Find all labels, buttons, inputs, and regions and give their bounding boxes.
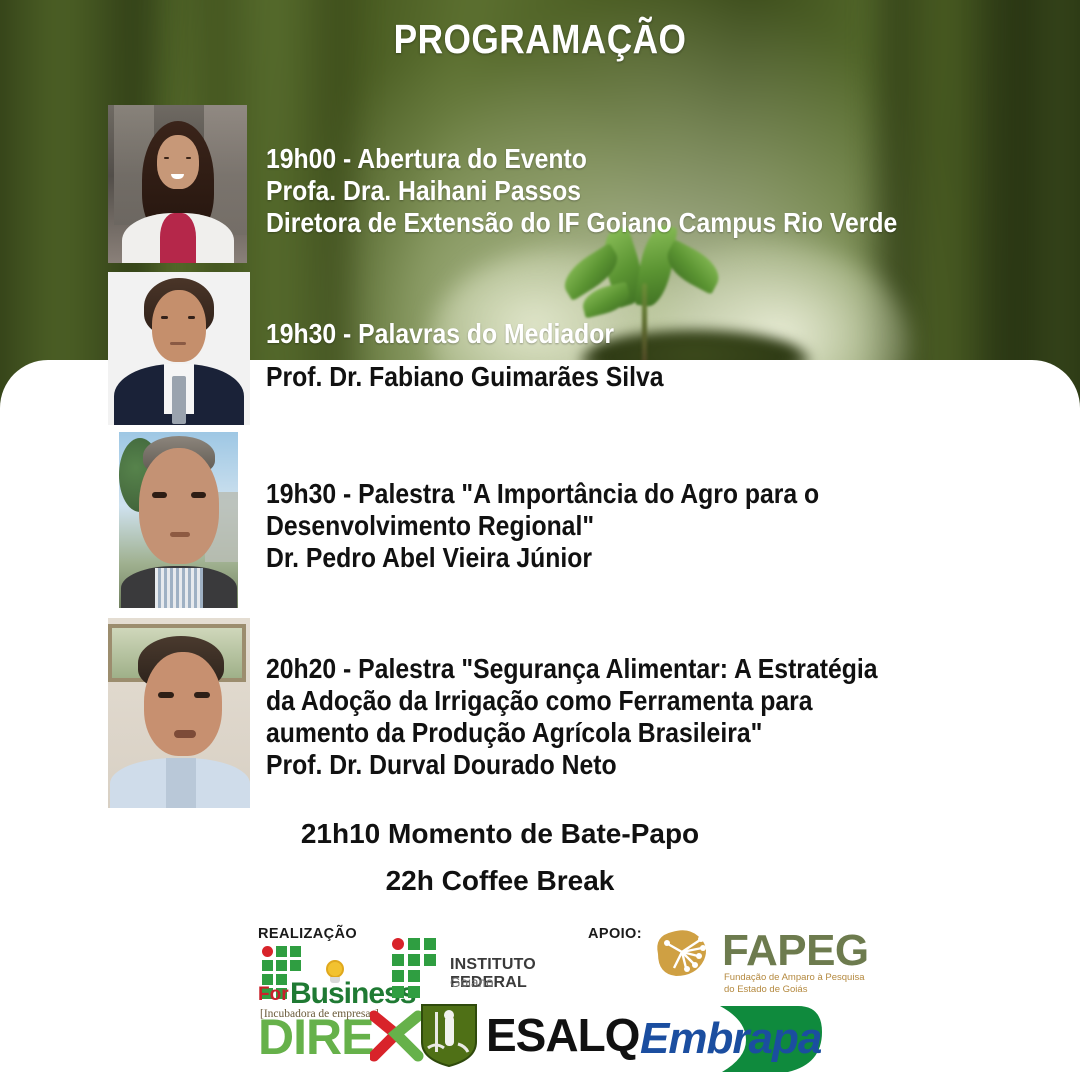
logo-embrapa: Embrapa <box>640 1000 860 1076</box>
if-grid-icon <box>392 938 440 996</box>
logo-instituto-federal-goiano: INSTITUTO FEDERAL Goiano <box>392 938 572 998</box>
logo-fapeg-text: FAPEG <box>722 926 869 976</box>
esalq-shield-icon <box>418 1002 480 1068</box>
logo-embrapa-text: Embrapa <box>640 1014 821 1064</box>
schedule-item-text-line2: Prof. Dr. Fabiano Guimarães Silva <box>266 361 1022 393</box>
logo-esalq: ESALQ <box>418 1002 588 1066</box>
logo-direx-text: DIRE <box>258 1008 373 1066</box>
logo-forbusiness-for: For <box>258 984 289 1006</box>
speaker-photo-fabiano-guimaraes-silva <box>108 272 250 425</box>
speaker-photo-durval-dourado-neto <box>108 618 250 808</box>
footer-logos: REALIZAÇÃO For Business [Incubadora de e… <box>0 912 1080 1080</box>
logo-esalq-text: ESALQ <box>486 1008 639 1062</box>
apoio-label: APOIO: <box>588 926 642 942</box>
closing-line-coffee-break: 22h Coffee Break <box>0 865 1000 897</box>
logo-fapeg: FAPEG Fundação de Amparo à Pesquisa do E… <box>648 920 868 998</box>
logo-fapeg-sub-line2: do Estado de Goiás <box>724 984 807 996</box>
schedule-item-text-line1: 19h30 - Palavras do Mediador <box>266 318 1022 350</box>
speaker-photo-haihani-passos <box>108 105 247 263</box>
schedule-item-text: 19h00 - Abertura do Evento Profa. Dra. H… <box>266 143 1022 239</box>
schedule-item-text: 20h20 - Palestra "Segurança Alimentar: A… <box>266 653 1022 781</box>
speaker-photo-pedro-abel-vieira-junior <box>119 432 238 608</box>
closing-line-bate-papo: 21h10 Momento de Bate-Papo <box>0 818 1000 850</box>
logo-if-line2: Goiano <box>450 975 494 990</box>
schedule-item-text: 19h30 - Palestra "A Importância do Agro … <box>266 478 1022 574</box>
realizacao-label: REALIZAÇÃO <box>258 926 357 942</box>
logo-direx: DIRE <box>258 1008 418 1062</box>
fapeg-brain-icon <box>648 924 718 984</box>
logo-fapeg-sub-line1: Fundação de Amparo à Pesquisa <box>724 972 864 984</box>
